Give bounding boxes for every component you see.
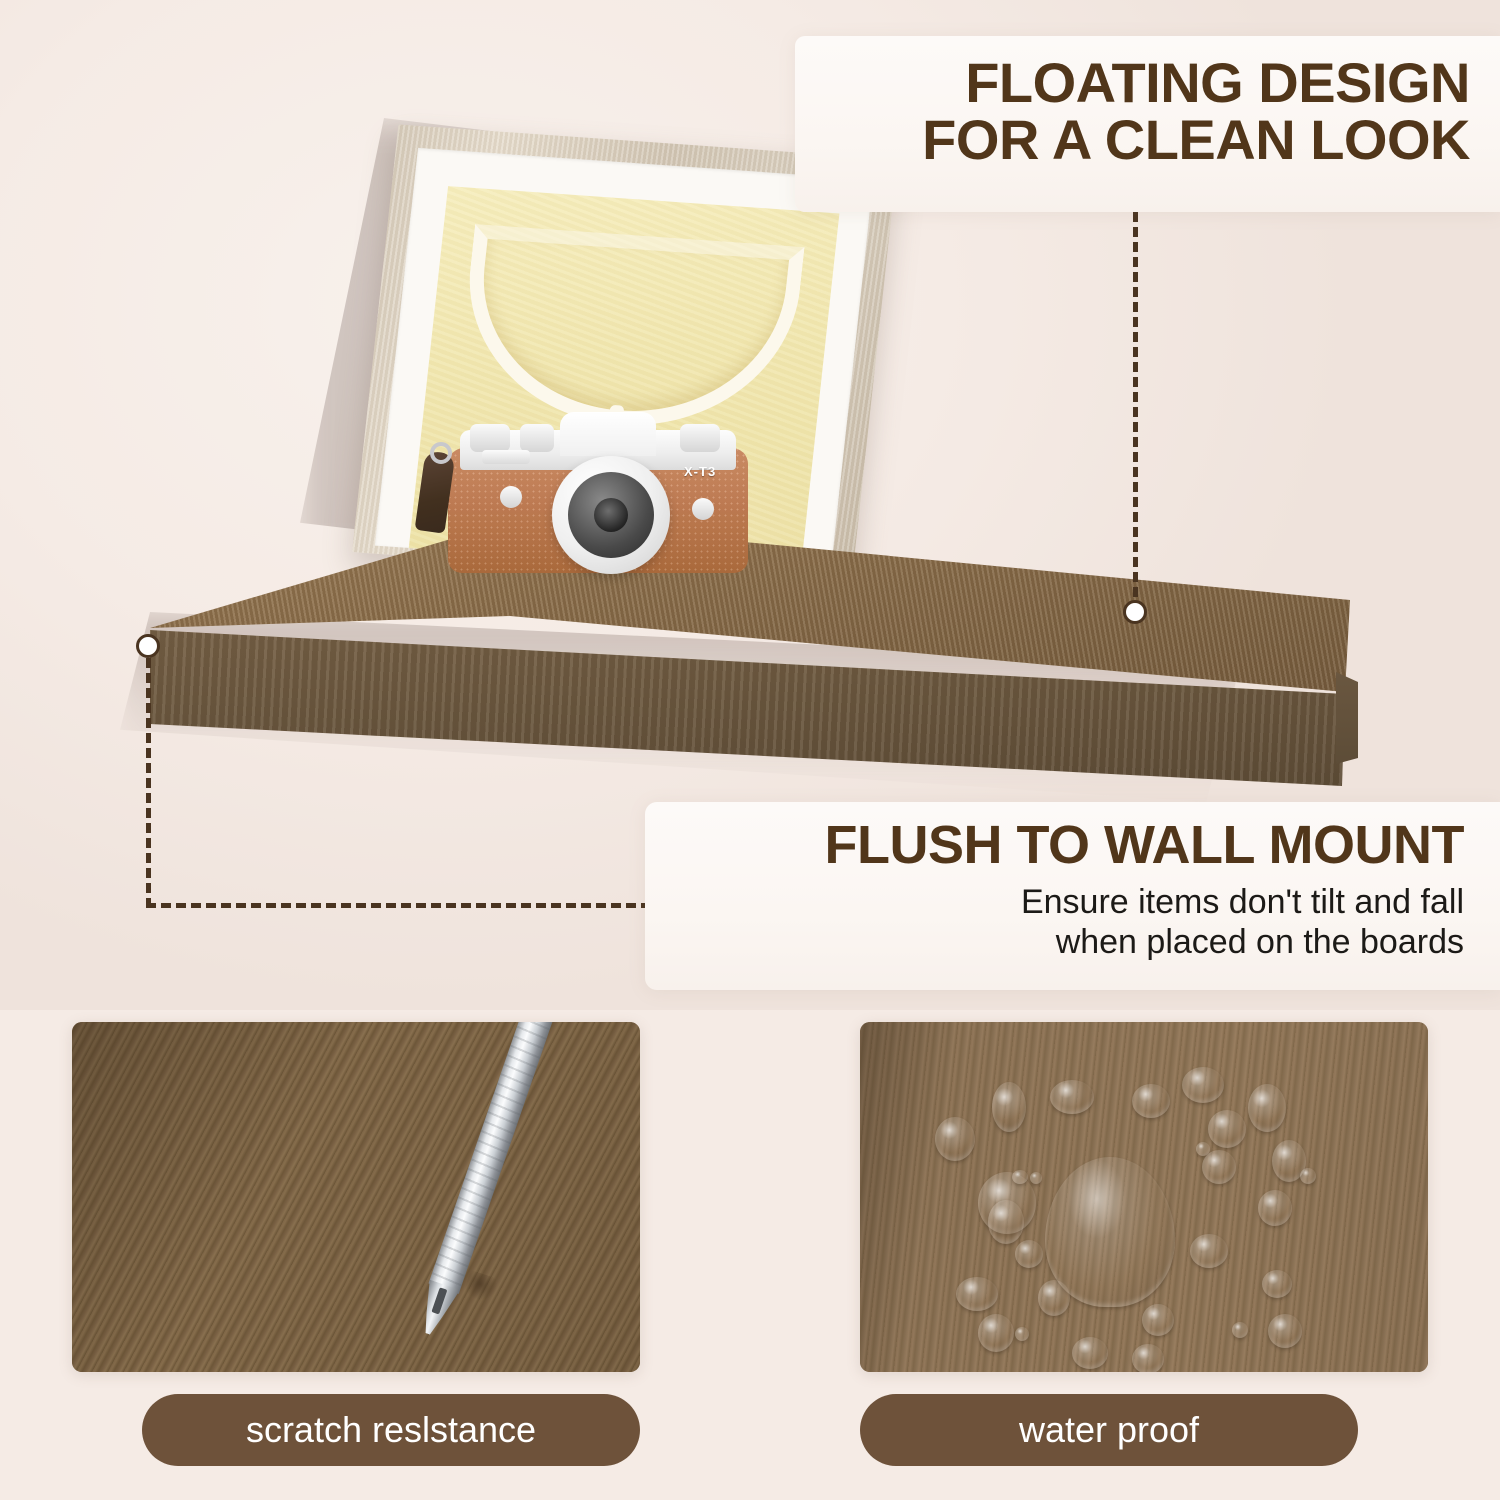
water-droplet [1258,1190,1292,1226]
water-droplet [978,1314,1014,1352]
water-droplet [1015,1240,1043,1268]
water-droplet [1202,1150,1236,1184]
camera-dial-left [470,424,510,452]
camera-lens [552,456,670,574]
water-droplet [1142,1304,1174,1336]
callout-dot-floating-design [1123,600,1147,624]
water-droplet [1030,1172,1042,1184]
callout-dot-flush-mount [136,634,160,658]
camera-side-button [692,498,714,520]
water-droplet [1208,1110,1246,1148]
shelf-right-end [1336,672,1358,777]
water-droplet [1262,1270,1292,1298]
headline-floating-design-line2: FOR A CLEAN LOOK [795,111,1470,168]
camera-strap-ring-icon [430,442,452,464]
camera-dial-right [680,424,720,452]
feature-photo-scratch-resistance [72,1022,640,1372]
subtitle-flush-mount-line1: Ensure items don't tilt and fall [645,883,1464,922]
water-droplet [1015,1327,1029,1341]
feature-label-water-proof[interactable]: water proof [860,1394,1358,1466]
water-droplet [1038,1280,1070,1316]
camera-lens-glass [594,498,628,532]
water-droplet [1190,1234,1228,1268]
camera-lens-barrel [568,472,654,558]
subtitle-flush-mount-line2: when placed on the boards [645,923,1464,962]
water-droplet [1232,1322,1248,1338]
camera-front-button [500,486,522,508]
feature-label-text: water proof [1019,1409,1199,1451]
water-droplet [1300,1168,1316,1184]
camera-model-badge: X-T3 [684,464,716,479]
headline-floating-design-line1: FLOATING DESIGN [795,54,1470,111]
wood-surface-dark [72,1022,640,1372]
water-droplet [935,1117,975,1161]
callout-panel-flush-mount: FLUSH TO WALL MOUNT Ensure items don't t… [645,802,1500,990]
leader-line-flush-vertical [146,658,151,908]
feature-label-scratch-resistance[interactable]: scratch reslstance [142,1394,640,1466]
water-droplet [1268,1314,1302,1348]
callout-panel-floating-design: FLOATING DESIGN FOR A CLEAN LOOK [795,36,1500,212]
water-droplet [956,1277,998,1311]
water-droplet [1132,1344,1164,1372]
camera-dial-mid [520,424,554,452]
water-droplet [988,1200,1024,1244]
camera-prism-hump [560,412,656,456]
water-droplet [1072,1337,1108,1369]
camera: X-T3 [448,412,748,577]
headline-flush-mount: FLUSH TO WALL MOUNT [645,818,1464,873]
leader-line-flush-horizontal [146,903,651,908]
water-droplet [1012,1170,1028,1184]
water-droplet [992,1082,1026,1132]
feature-photo-water-proof [860,1022,1428,1372]
leader-line-floating-design [1133,212,1138,612]
water-droplet [1050,1080,1094,1114]
water-droplet [1248,1084,1286,1132]
water-droplet [1182,1067,1224,1103]
feature-label-text: scratch reslstance [246,1409,536,1451]
camera-front-bar [482,450,530,464]
water-droplet [1132,1084,1170,1118]
product-infographic: X-T3 FLOATING DESIGN FOR A CLEAN LOOK FL… [0,0,1500,1500]
